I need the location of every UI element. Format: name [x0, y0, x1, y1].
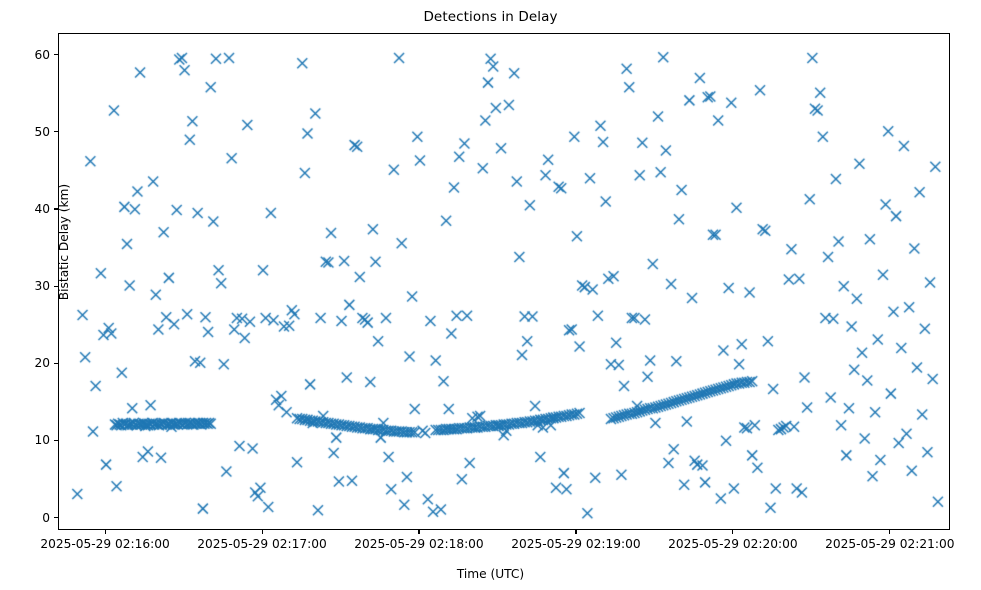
chart-figure: Detections in Delay 0102030405060 2025-0…	[0, 0, 981, 590]
x-tick-label: 2025-05-29 02:19:00	[481, 537, 671, 551]
plot-area	[58, 33, 950, 530]
x-tick-label: 2025-05-29 02:18:00	[324, 537, 514, 551]
y-tick-label: 20	[6, 356, 50, 370]
x-axis-label: Time (UTC)	[0, 567, 981, 581]
y-tick-label: 30	[6, 279, 50, 293]
x-tick-label: 2025-05-29 02:21:00	[795, 537, 981, 551]
y-axis-label: Bistatic Delay (km)	[57, 162, 71, 322]
y-tick-label: 50	[6, 125, 50, 139]
y-tick-label: 40	[6, 202, 50, 216]
x-tick-mark	[262, 530, 263, 534]
x-tick-label: 2025-05-29 02:17:00	[167, 537, 357, 551]
y-tick-label: 10	[6, 433, 50, 447]
x-tick-label: 2025-05-29 02:20:00	[638, 537, 828, 551]
x-tick-mark	[732, 530, 733, 534]
x-tick-mark	[575, 530, 576, 534]
x-tick-mark	[105, 530, 106, 534]
y-tick-label: 60	[6, 48, 50, 62]
chart-title: Detections in Delay	[0, 9, 981, 25]
scatter-canvas	[59, 34, 950, 530]
x-tick-label: 2025-05-29 02:16:00	[10, 537, 200, 551]
y-tick-label: 0	[6, 511, 50, 525]
x-tick-mark	[889, 530, 890, 534]
x-tick-mark	[418, 530, 419, 534]
